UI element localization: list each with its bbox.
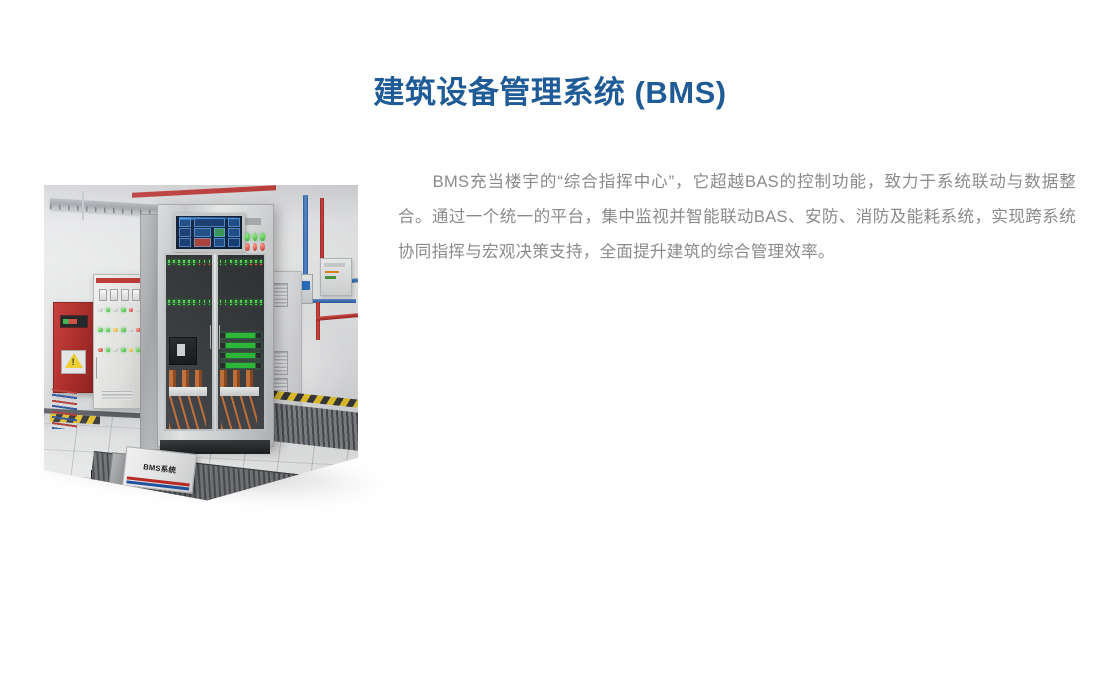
controller-module-box xyxy=(169,337,197,365)
hmi-panel-grid xyxy=(179,218,240,248)
led xyxy=(245,304,247,305)
hmi-tile xyxy=(214,228,225,237)
led xyxy=(209,304,211,305)
description-paragraph: BMS充当楼宇的“综合指挥中心”，它超越BAS的控制功能，致力于系统联动与数据整… xyxy=(398,165,1076,270)
wall-pipe-red-drop xyxy=(316,302,320,340)
indicator-lamp xyxy=(121,328,126,332)
relay-module xyxy=(220,333,260,338)
relay-module xyxy=(220,343,260,348)
hmi-tile xyxy=(194,228,211,237)
led xyxy=(178,304,180,305)
meter-1 xyxy=(99,289,107,301)
led-terminal-rack-bottom-left xyxy=(168,300,210,304)
control-button-row-2 xyxy=(98,328,140,332)
control-button-row-3 xyxy=(98,348,140,352)
hmi-tile xyxy=(228,218,239,227)
cabinet-glass-door-right xyxy=(216,253,266,430)
relay-module xyxy=(220,363,260,368)
led xyxy=(220,264,222,265)
indicator-lamp xyxy=(129,308,134,312)
led xyxy=(250,264,252,265)
led xyxy=(245,264,247,265)
led xyxy=(204,304,206,305)
indicator-lamp xyxy=(98,308,103,312)
terminal-strip-right xyxy=(220,387,259,396)
meter-3 xyxy=(121,289,129,301)
control-button-row-1 xyxy=(98,308,140,312)
led xyxy=(220,304,222,305)
cable-bundle-left xyxy=(169,396,206,429)
led xyxy=(225,304,227,305)
led xyxy=(178,264,180,265)
led xyxy=(173,264,175,265)
led xyxy=(173,304,175,305)
led xyxy=(199,304,201,305)
led-terminal-rack-top-left xyxy=(168,260,210,264)
status-lamp xyxy=(260,233,265,241)
meter-2 xyxy=(110,289,118,301)
wall-box-indicator-green xyxy=(325,276,336,278)
led xyxy=(183,304,185,305)
relay-module-stack xyxy=(220,333,260,368)
led xyxy=(193,304,195,305)
door-interior-right xyxy=(218,255,264,428)
fire-cabinet-display xyxy=(60,315,88,329)
bms-sign-label: BMS系统 xyxy=(143,463,177,474)
hmi-tile xyxy=(179,218,191,227)
led xyxy=(260,304,262,305)
led-terminal-rack-bottom-right xyxy=(220,300,262,304)
hmi-tile xyxy=(228,238,239,247)
led xyxy=(250,304,252,305)
led xyxy=(188,304,190,305)
hmi-tile xyxy=(194,238,211,247)
led xyxy=(235,264,237,265)
indicator-lamp xyxy=(121,308,126,312)
led xyxy=(168,304,170,305)
cabinet-door-vent xyxy=(102,391,132,400)
led xyxy=(183,264,185,265)
indicator-lamp xyxy=(121,348,126,352)
equipment-room-photo: BMS系统 xyxy=(44,185,358,502)
led xyxy=(168,264,170,265)
bms-main-cabinet xyxy=(157,204,274,447)
led xyxy=(193,264,195,265)
door-interior-left xyxy=(166,255,212,428)
wall-box-indicator-orange xyxy=(325,271,339,273)
control-cabinet-header-band xyxy=(96,278,144,283)
led xyxy=(199,264,201,265)
led xyxy=(188,264,190,265)
led xyxy=(230,264,232,265)
led-terminal-rack-top-right xyxy=(220,260,262,264)
status-lamp xyxy=(253,243,258,251)
indicator-lamp xyxy=(98,348,103,352)
copper-busbars-left xyxy=(169,370,203,387)
status-lamp xyxy=(253,233,258,241)
glass-door-handle-right xyxy=(219,325,220,349)
hmi-tile xyxy=(179,238,191,247)
led xyxy=(235,304,237,305)
hmi-tile xyxy=(228,228,239,237)
warning-triangle-icon xyxy=(65,353,83,368)
led xyxy=(255,304,257,305)
led xyxy=(240,304,242,305)
cabinet-glass-door-left xyxy=(164,253,214,430)
status-lamp xyxy=(245,233,250,241)
led xyxy=(260,264,262,265)
led xyxy=(225,264,227,265)
led xyxy=(240,264,242,265)
hmi-tile xyxy=(194,218,225,227)
control-cabinet-meters xyxy=(99,289,140,301)
relay-module xyxy=(220,353,260,358)
hmi-touchscreen xyxy=(173,213,245,252)
cabinet-status-lamps xyxy=(245,233,264,251)
led xyxy=(255,264,257,265)
copper-busbars-right xyxy=(220,370,254,387)
cable-bundle-right xyxy=(221,396,258,429)
status-lamp xyxy=(245,243,250,251)
power-control-cabinet xyxy=(93,274,147,409)
hmi-tile xyxy=(214,238,225,247)
indicator-lamp xyxy=(113,348,118,352)
indicator-lamp xyxy=(106,348,111,352)
page-title: 建筑设备管理系统 (BMS) xyxy=(0,71,1100,115)
terminal-strip-left xyxy=(169,387,208,396)
status-lamp xyxy=(260,243,265,251)
cabinet-brand-plate xyxy=(245,218,261,225)
indicator-lamp xyxy=(129,348,134,352)
led xyxy=(209,264,211,265)
hmi-tile xyxy=(179,228,191,237)
cabinet-door-handle xyxy=(96,357,97,378)
led xyxy=(204,264,206,265)
indicator-lamp xyxy=(113,308,118,312)
hero-photo: BMS系统 xyxy=(44,185,358,502)
bms-floor-sign: BMS系统 xyxy=(122,446,197,494)
indicator-lamp xyxy=(129,328,134,332)
fire-cabinet-wiring xyxy=(52,388,77,429)
indicator-lamp xyxy=(98,328,103,332)
photo-scene: BMS系统 xyxy=(44,185,358,502)
ceiling-conduit xyxy=(82,191,85,220)
fire-alarm-cabinet xyxy=(53,302,94,393)
indicator-lamp xyxy=(106,308,111,312)
wall-box-label xyxy=(324,263,345,266)
wall-control-box xyxy=(320,258,352,296)
indicator-lamp xyxy=(113,328,118,332)
indicator-lamp xyxy=(106,328,111,332)
led xyxy=(230,304,232,305)
